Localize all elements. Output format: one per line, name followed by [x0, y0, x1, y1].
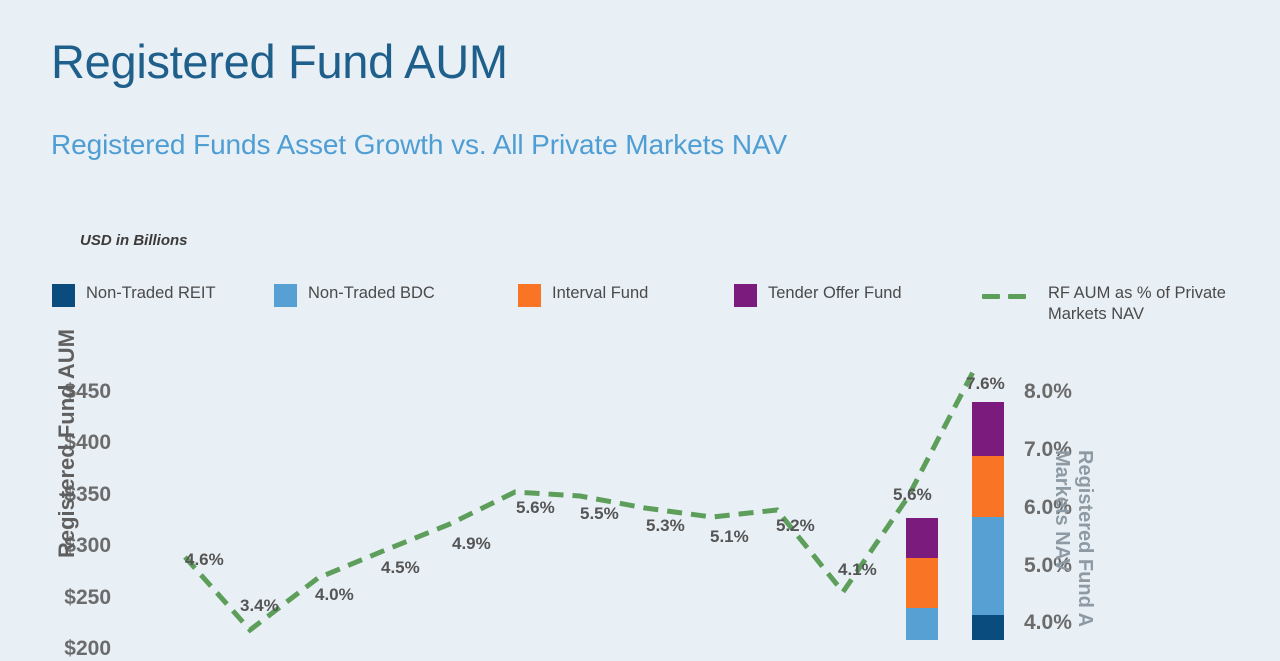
chart-page: Registered Fund AUM Registered Funds Ass…: [0, 0, 1280, 640]
data-point-label: 5.5%: [580, 504, 619, 524]
legend-swatch-icon: [52, 284, 75, 307]
data-point-label: 4.9%: [452, 534, 491, 554]
legend-label: Non-Traded BDC: [308, 283, 435, 304]
data-point-label: 5.6%: [893, 485, 932, 505]
legend-item-non-traded-reit[interactable]: Non-Traded REIT: [52, 283, 216, 307]
data-point-label: 5.3%: [646, 516, 685, 536]
legend-item-rf-aum-percent[interactable]: RF AUM as % of Private Markets NAV: [982, 283, 1253, 325]
page-subtitle: Registered Funds Asset Growth vs. All Pr…: [51, 128, 787, 162]
data-point-label: 3.4%: [240, 596, 279, 616]
legend-item-tender-offer-fund[interactable]: Tender Offer Fund: [734, 283, 902, 307]
legend-swatch-icon: [734, 284, 757, 307]
data-point-label: 4.6%: [185, 550, 224, 570]
plot-area: $450 $400 $350 $300 $250 $200 8.0% 7.0% …: [0, 350, 1280, 640]
legend-label: Non-Traded REIT: [86, 283, 216, 304]
data-point-label: 7.6%: [966, 374, 1005, 394]
chart-legend: Non-Traded REIT Non-Traded BDC Interval …: [52, 283, 1242, 333]
units-note: USD in Billions: [80, 232, 188, 249]
trend-line-layer: [0, 350, 1280, 640]
y-axis-tick-left: $200: [64, 637, 111, 661]
data-point-label: 5.6%: [516, 498, 555, 518]
page-title: Registered Fund AUM: [51, 36, 508, 88]
legend-swatch-icon: [274, 284, 297, 307]
legend-label: Tender Offer Fund: [768, 283, 902, 304]
data-point-label: 5.2%: [776, 516, 815, 536]
dashed-line-icon: [982, 284, 1037, 307]
trend-line: [185, 372, 973, 630]
legend-label: Interval Fund: [552, 283, 648, 304]
data-point-label: 4.5%: [381, 558, 420, 578]
legend-label: RF AUM as % of Private Markets NAV: [1048, 283, 1253, 325]
legend-item-interval-fund[interactable]: Interval Fund: [518, 283, 648, 307]
data-point-label: 4.1%: [838, 560, 877, 580]
legend-item-non-traded-bdc[interactable]: Non-Traded BDC: [274, 283, 435, 307]
data-point-label: 5.1%: [710, 527, 749, 547]
legend-swatch-icon: [518, 284, 541, 307]
data-point-label: 4.0%: [315, 585, 354, 605]
